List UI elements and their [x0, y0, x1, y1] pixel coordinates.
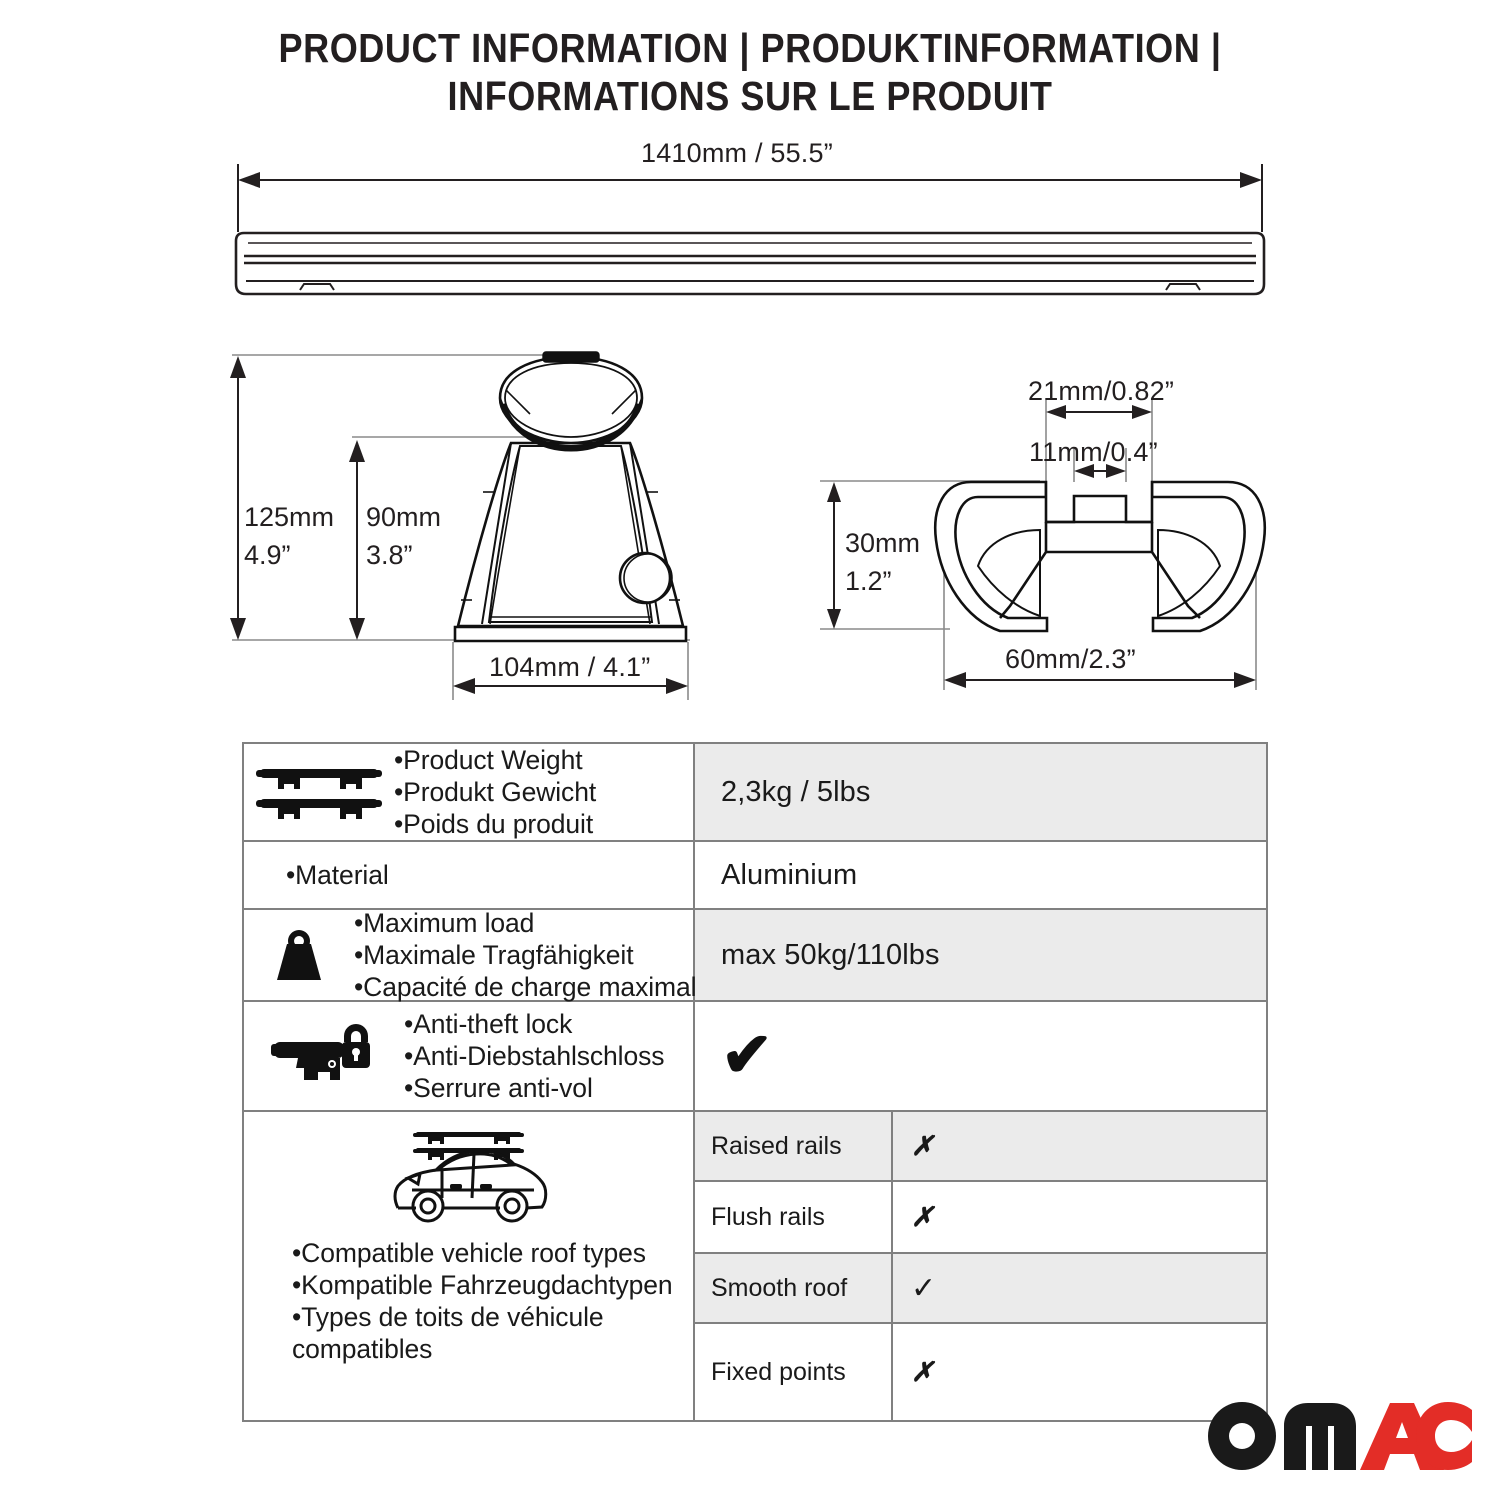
roof-types-label-cell: •Compatible vehicle roof types •Kompatib…	[244, 1112, 695, 1420]
roof-type-row: Smooth roof ✓	[695, 1254, 1266, 1324]
anti-theft-check-mark: ✔	[721, 1025, 773, 1087]
row-label-cell: •Anti-theft lock •Anti-Diebstahlschloss …	[244, 1002, 695, 1110]
row-label-cell: •Material	[244, 842, 695, 908]
bar-length-dimension	[238, 164, 1262, 232]
roof-type-name: Raised rails	[695, 1112, 893, 1180]
roof-type-mark: ✗	[893, 1182, 1266, 1252]
lock-icon	[244, 1020, 404, 1092]
table-row: •Product Weight •Produkt Gewicht •Poids …	[244, 744, 1266, 842]
row-value-cell: ✔	[695, 1002, 1266, 1110]
tower-crossbar-cap	[500, 352, 642, 449]
profile-inner-slot-label: 11mm/0.4”	[1029, 437, 1158, 468]
bar-cross-section	[935, 482, 1265, 631]
roof-type-name: Flush rails	[695, 1182, 893, 1252]
roof-type-row: Fixed points ✗	[695, 1324, 1266, 1420]
tower-total-height-label: 125mm 4.9”	[244, 498, 334, 574]
roof-type-mark: ✓	[893, 1254, 1266, 1322]
weight-icon	[244, 924, 354, 986]
omac-logo	[1204, 1396, 1474, 1474]
roof-types-label-text: •Compatible vehicle roof types •Kompatib…	[292, 1237, 673, 1365]
roof-type-name: Fixed points	[695, 1324, 893, 1420]
row-value-text: max 50kg/110lbs	[721, 939, 940, 972]
row-label-text: •Maximum load •Maximale Tragfähigkeit •C…	[354, 907, 711, 1003]
row-label-cell: •Product Weight •Produkt Gewicht •Poids …	[244, 744, 695, 840]
table-row: •Material Aluminium	[244, 842, 1266, 910]
row-value-cell: max 50kg/110lbs	[695, 910, 1266, 1000]
row-value-cell: 2,3kg / 5lbs	[695, 744, 1266, 840]
row-label-cell: •Maximum load •Maximale Tragfähigkeit •C…	[244, 910, 695, 1000]
roof-type-mark: ✗	[893, 1112, 1266, 1180]
specification-table: •Product Weight •Produkt Gewicht •Poids …	[242, 742, 1268, 1422]
tower-inner-height-label: 90mm 3.8”	[366, 498, 441, 574]
row-value-cell: Aluminium	[695, 842, 1266, 908]
row-value-text: 2,3kg / 5lbs	[721, 776, 871, 809]
roof-rack-bars-icon	[244, 761, 394, 823]
roof-type-name: Smooth roof	[695, 1254, 893, 1322]
profile-outer-slot-label: 21mm/0.82”	[1028, 376, 1174, 407]
bar-length-label: 1410mm / 55.5”	[641, 138, 833, 169]
product-information-page: PRODUCT INFORMATION | PRODUKTINFORMATION…	[0, 0, 1500, 1500]
roof-types-list: Raised rails ✗ Flush rails ✗ Smooth roof…	[695, 1112, 1266, 1420]
table-row: •Anti-theft lock •Anti-Diebstahlschloss …	[244, 1002, 1266, 1112]
car-with-roof-bars-icon	[384, 1122, 554, 1239]
crossbar-side-view	[236, 233, 1264, 294]
tower-body	[455, 443, 686, 641]
row-label-text: •Anti-theft lock •Anti-Diebstahlschloss …	[404, 1008, 664, 1104]
table-row-roof-types: •Compatible vehicle roof types •Kompatib…	[244, 1112, 1266, 1420]
row-label-text: •Material	[286, 859, 389, 891]
row-value-text: Aluminium	[721, 859, 857, 892]
profile-width-label: 60mm/2.3”	[1005, 644, 1136, 675]
roof-type-row: Flush rails ✗	[695, 1182, 1266, 1254]
roof-type-row: Raised rails ✗	[695, 1112, 1266, 1182]
tower-width-label: 104mm / 4.1”	[489, 652, 650, 683]
profile-height-label: 30mm 1.2”	[845, 524, 920, 600]
row-label-text: •Product Weight •Produkt Gewicht •Poids …	[394, 744, 596, 840]
table-row: •Maximum load •Maximale Tragfähigkeit •C…	[244, 910, 1266, 1002]
